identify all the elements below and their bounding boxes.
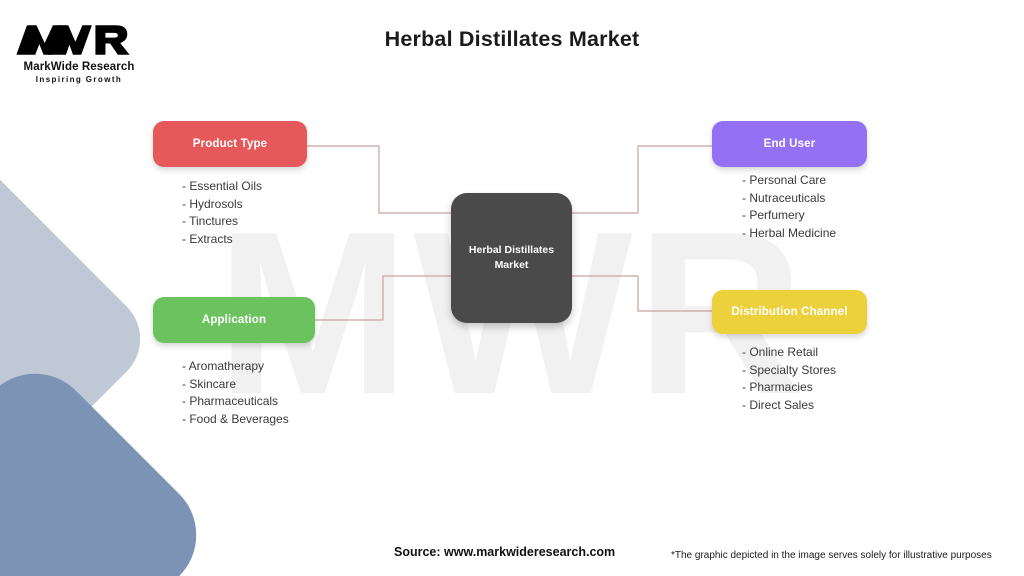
list-item: - Essential Oils	[182, 178, 262, 196]
connector-product-type	[307, 146, 451, 213]
list-item: - Pharmacies	[742, 379, 836, 397]
items-product-type: - Essential Oils - Hydrosols - Tinctures…	[182, 178, 262, 248]
items-distribution-channel: - Online Retail - Specialty Stores - Pha…	[742, 344, 836, 414]
list-item: - Herbal Medicine	[742, 225, 836, 243]
node-end-user[interactable]: End User	[712, 121, 867, 167]
list-item: - Nutraceuticals	[742, 190, 836, 208]
center-node-line1: Herbal Distillates	[469, 244, 554, 256]
disclaimer-note: *The graphic depicted in the image serve…	[671, 550, 992, 561]
list-item: - Perfumery	[742, 207, 836, 225]
list-item: - Aromatherapy	[182, 358, 289, 376]
list-item: - Online Retail	[742, 344, 836, 362]
connector-distribution-channel	[572, 276, 712, 311]
node-application[interactable]: Application	[153, 297, 315, 343]
center-node-label: Herbal Distillates Market	[461, 243, 562, 273]
center-node-line2: Market	[495, 259, 529, 271]
center-node[interactable]: Herbal Distillates Market	[451, 193, 572, 323]
list-item: - Food & Beverages	[182, 411, 289, 429]
node-distribution-channel[interactable]: Distribution Channel	[712, 290, 867, 334]
list-item: - Specialty Stores	[742, 362, 836, 380]
source-label: Source: www.markwideresearch.com	[394, 545, 615, 559]
list-item: - Personal Care	[742, 172, 836, 190]
node-product-type-label: Product Type	[193, 138, 267, 150]
node-product-type[interactable]: Product Type	[153, 121, 307, 167]
connector-application	[315, 276, 451, 320]
list-item: - Pharmaceuticals	[182, 393, 289, 411]
infographic-canvas: MWR MarkWide Research Inspiring Growth H…	[0, 0, 1024, 576]
list-item: - Extracts	[182, 231, 262, 249]
items-end-user: - Personal Care - Nutraceuticals - Perfu…	[742, 172, 836, 242]
list-item: - Direct Sales	[742, 397, 836, 415]
connector-end-user	[572, 146, 712, 213]
list-item: - Tinctures	[182, 213, 262, 231]
node-distribution-channel-label: Distribution Channel	[731, 306, 847, 318]
node-application-label: Application	[202, 314, 266, 326]
list-item: - Skincare	[182, 376, 289, 394]
node-end-user-label: End User	[764, 138, 816, 150]
list-item: - Hydrosols	[182, 196, 262, 214]
items-application: - Aromatherapy - Skincare - Pharmaceutic…	[182, 358, 289, 428]
